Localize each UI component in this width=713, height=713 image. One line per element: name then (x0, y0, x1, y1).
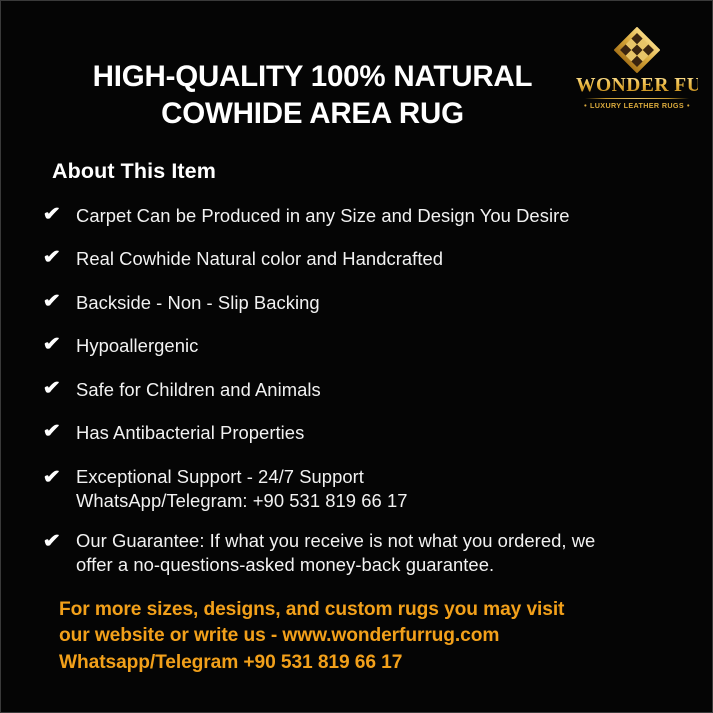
check-icon: ✔ (43, 421, 79, 441)
diamond-argyle-icon (614, 27, 660, 73)
logo-divider (585, 98, 689, 99)
check-icon: ✔ (43, 378, 79, 398)
tagline-text: LUXURY LEATHER RUGS (590, 101, 684, 110)
list-item-label: Our Guarantee: If what you receive is no… (76, 529, 595, 578)
list-item: ✔ Exceptional Support - 24/7 Support Wha… (45, 465, 685, 514)
brand-tagline: •LUXURY LEATHER RUGS• (576, 101, 698, 110)
product-info-card: WONDER FUR •LUXURY LEATHER RUGS• HIGH-QU… (0, 0, 713, 713)
brand-wordmark: WONDER FUR (576, 76, 698, 96)
list-item-label: Exceptional Support - 24/7 Support Whats… (76, 465, 408, 514)
section-heading: About This Item (52, 159, 216, 184)
list-item: ✔ Carpet Can be Produced in any Size and… (45, 204, 685, 228)
check-icon: ✔ (43, 465, 79, 487)
check-icon: ✔ (43, 247, 79, 267)
footer-contact-text: For more sizes, designs, and custom rugs… (59, 597, 679, 676)
page-title: HIGH-QUALITY 100% NATURAL COWHIDE AREA R… (45, 58, 580, 132)
list-item-label: Backside - Non - Slip Backing (76, 291, 320, 315)
list-item-label: Hypoallergenic (76, 334, 198, 358)
list-item-label: Safe for Children and Animals (76, 378, 321, 402)
list-item-label: Has Antibacterial Properties (76, 421, 304, 445)
check-icon: ✔ (43, 334, 79, 354)
list-item: ✔ Hypoallergenic (45, 334, 685, 358)
brand-logo: WONDER FUR •LUXURY LEATHER RUGS• (576, 27, 698, 110)
list-item-label: Real Cowhide Natural color and Handcraft… (76, 247, 443, 271)
feature-list: ✔ Carpet Can be Produced in any Size and… (45, 204, 685, 593)
list-item: ✔ Real Cowhide Natural color and Handcra… (45, 247, 685, 271)
tagline-bullet-left: • (581, 101, 590, 110)
list-item-label: Carpet Can be Produced in any Size and D… (76, 204, 570, 228)
list-item: ✔ Safe for Children and Animals (45, 378, 685, 402)
list-item: ✔ Has Antibacterial Properties (45, 421, 685, 445)
check-icon: ✔ (43, 291, 79, 311)
tagline-bullet-right: • (684, 101, 693, 110)
list-item: ✔ Backside - Non - Slip Backing (45, 291, 685, 315)
list-item: ✔ Our Guarantee: If what you receive is … (45, 529, 685, 578)
check-icon: ✔ (43, 529, 79, 551)
check-icon: ✔ (43, 204, 79, 224)
